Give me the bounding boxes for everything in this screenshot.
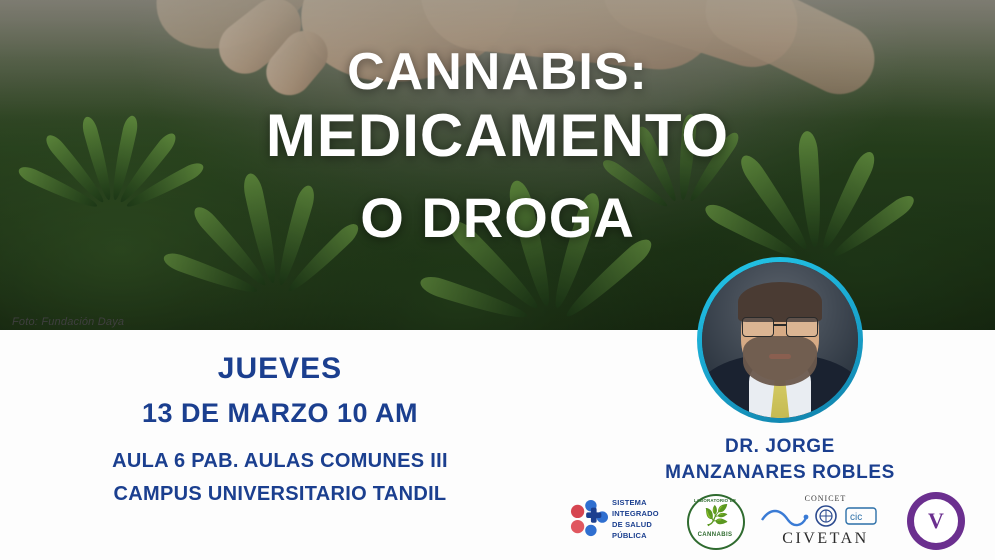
cannabis-logo-label: CANNABIS: [689, 532, 741, 538]
logo-laboratorio-cannabis: LABORATORIO DE 🌿 CANNABIS: [685, 492, 751, 550]
portrait-mouth: [769, 354, 791, 359]
event-venue-line-1: AULA 6 PAB. AULAS COMUNES III: [0, 450, 560, 473]
speaker-portrait: [702, 262, 858, 418]
event-venue-line-2: CAMPUS UNIVERSITARIO TANDIL: [0, 483, 560, 506]
speaker-name: DR. JORGE MANZANARES ROBLES: [620, 434, 940, 485]
event-date-time: 13 DE MARZO 10 AM: [0, 398, 560, 429]
portrait-beard: [743, 336, 817, 386]
logo-row: SISTEMA INTEGRADO DE SALUD PÚBLICA LABOR…: [560, 492, 990, 556]
speaker-portrait-ring: [697, 257, 863, 423]
vet-inner-circle: V: [913, 498, 959, 544]
photo-credit: Foto: Fundación Daya: [12, 316, 124, 328]
sisp-line-2: INTEGRADO: [612, 509, 659, 520]
sisp-line-4: PÚBLICA: [612, 531, 659, 542]
sisp-line-1: SISTEMA: [612, 498, 659, 509]
cannabis-leaf-icon: 🌿: [704, 506, 729, 526]
medical-cross-icon: [570, 500, 608, 538]
sisp-line-3: DE SALUD: [612, 520, 659, 531]
logo-sistema-integrado-salud-publica: SISTEMA INTEGRADO DE SALUD PÚBLICA: [570, 492, 680, 550]
event-day: JUEVES: [0, 352, 560, 386]
vet-ring: V: [907, 492, 965, 550]
veterinary-emblem-icon: V: [928, 510, 944, 532]
poster-root: Foto: Fundación Daya CANNABIS: MEDICAMEN…: [0, 0, 995, 560]
logo-civetan: CONICET cic CIVETAN: [758, 492, 893, 550]
event-details: JUEVES 13 DE MARZO 10 AM AULA 6 PAB. AUL…: [0, 352, 560, 506]
speaker-name-line-1: DR. JORGE: [620, 434, 940, 460]
svg-text:cic: cic: [850, 512, 862, 523]
sisp-wordmark: SISTEMA INTEGRADO DE SALUD PÚBLICA: [612, 498, 659, 542]
logo-facultad-ciencias-veterinarias: V: [905, 492, 969, 552]
civetan-institution-marks-icon: cic: [758, 504, 893, 528]
glasses-icon: [742, 317, 818, 335]
speaker-name-line-2: MANZANARES ROBLES: [620, 460, 940, 486]
cannabis-logo-top-text: LABORATORIO DE: [689, 498, 741, 503]
conicet-label: CONICET: [758, 494, 893, 503]
civetan-wordmark: CIVETAN: [758, 530, 893, 548]
portrait-hair: [738, 282, 822, 322]
